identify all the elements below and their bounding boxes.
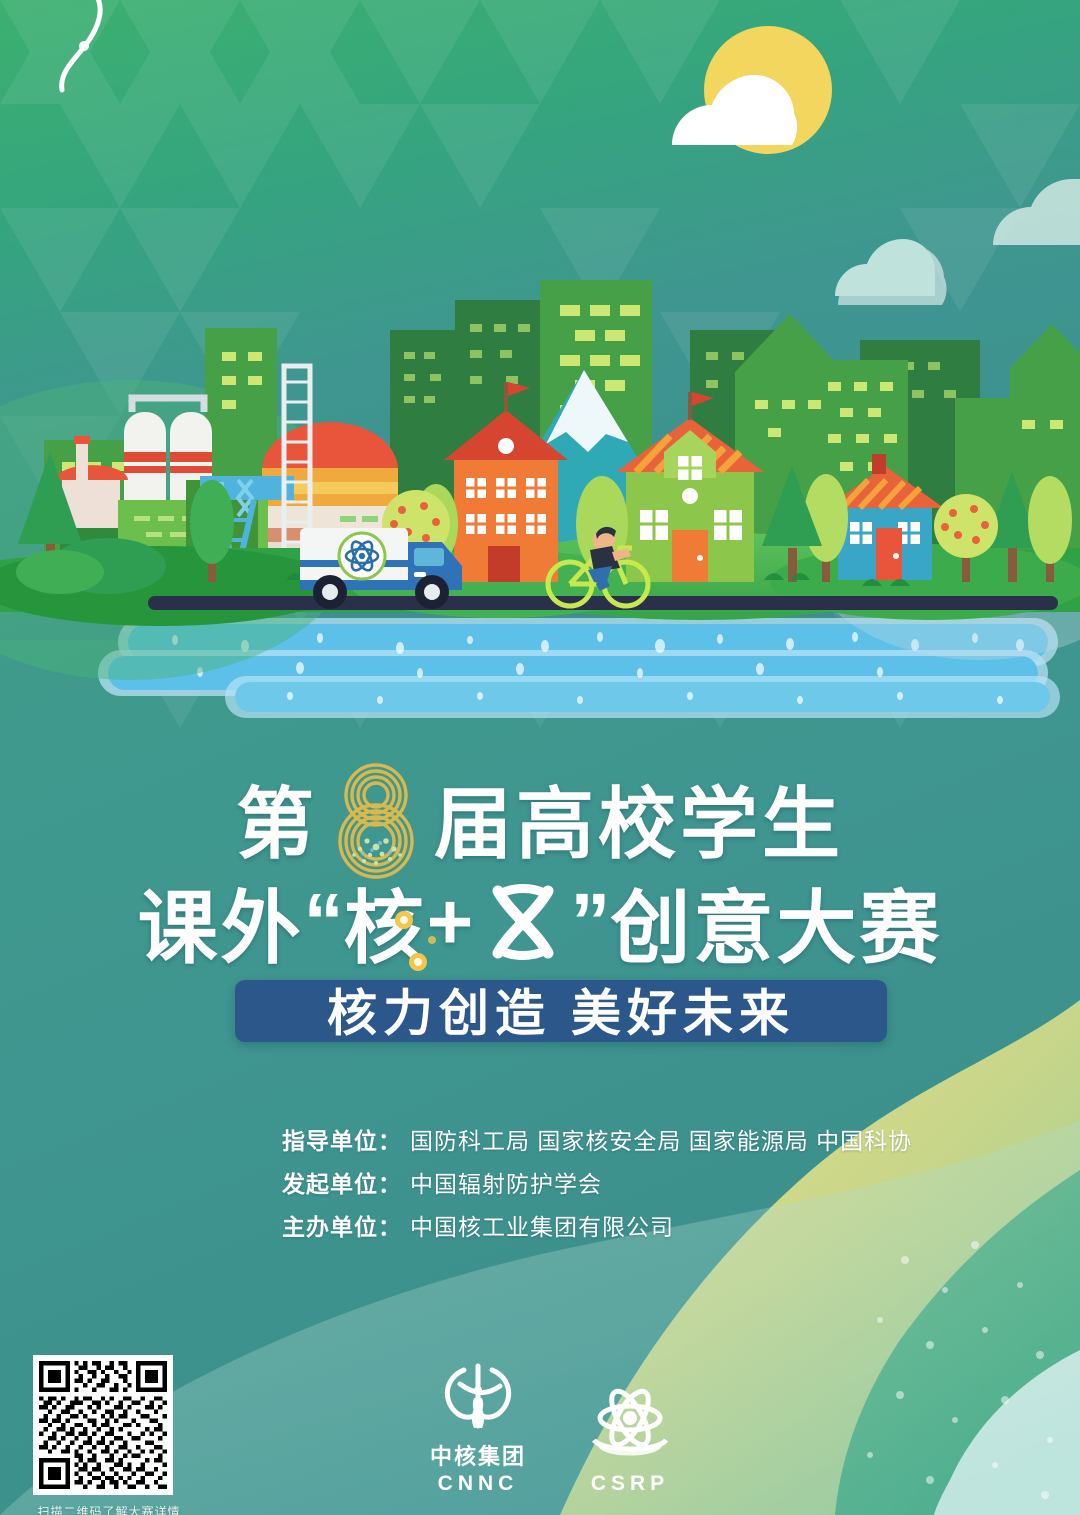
slogan-text: 核力创造 美好未来 <box>235 974 887 1046</box>
road <box>148 596 1058 610</box>
logo-cnnc-en: CNNC <box>430 1472 526 1496</box>
organizer-row: 发起单位 ： 中国辐射防护学会 <box>282 1165 912 1199</box>
organizer-label: 指导单位 <box>282 1122 378 1156</box>
csrp-atom-icon <box>578 1382 682 1466</box>
poster-root: 第 <box>0 0 1080 1515</box>
qr-code-image[interactable] <box>33 1355 173 1495</box>
organizer-colon: ： <box>378 1165 401 1199</box>
edition-number-8 <box>320 755 432 881</box>
slogan-he-swoosh <box>36 0 156 96</box>
title-prefix: 第 <box>236 762 318 874</box>
quote-close: ” <box>570 876 610 968</box>
organizer-colon: ： <box>378 1208 401 1242</box>
qr-block[interactable]: 扫描二维码了解大赛详情 <box>33 1355 185 1515</box>
logo-cnnc: 中核集团 CNNC <box>430 1360 526 1496</box>
logo-csrp-en: CSRP <box>578 1472 682 1496</box>
organizer-label: 主办单位 <box>282 1208 378 1242</box>
title-line-2: 课外 “ 核 + ” 创意大赛 <box>0 870 1080 974</box>
organizer-colon: ： <box>378 1122 401 1156</box>
organizer-label: 发起单位 <box>282 1165 378 1199</box>
title-part-contest: 创意大赛 <box>610 864 942 980</box>
title-line-1: 第 <box>0 770 1080 866</box>
title-block: 第 <box>0 770 1080 974</box>
organizer-row: 指导单位 ： 国防科工局 国家核安全局 国家能源局 中国科协 <box>282 1122 912 1156</box>
background-art <box>0 0 1080 1515</box>
title-part-keiwai: 课外 <box>138 864 304 980</box>
cnnc-atom-icon <box>430 1360 526 1432</box>
organizer-value: 国防科工局 国家核安全局 国家能源局 中国科协 <box>410 1122 912 1156</box>
organizer-value: 中国核工业集团有限公司 <box>410 1208 674 1242</box>
qr-caption: 扫描二维码了解大赛详情 <box>33 1503 185 1515</box>
dna-helix-icon <box>480 879 566 965</box>
title-char-he: 核 <box>344 864 427 980</box>
organizer-value: 中国辐射防护学会 <box>410 1165 602 1199</box>
logo-row: 中核集团 CNNC CSRP <box>430 1360 682 1496</box>
slogan-badge: 核力创造 美好未来 <box>235 980 887 1042</box>
logo-cnnc-cn: 中核集团 <box>430 1439 526 1471</box>
quote-open: “ <box>304 876 344 968</box>
title-plus: + <box>427 876 477 968</box>
title-suffix: 届高校学生 <box>434 762 844 874</box>
logo-csrp: CSRP <box>578 1382 682 1496</box>
organizers-block: 指导单位 ： 国防科工局 国家核安全局 国家能源局 中国科协 发起单位 ： 中国… <box>282 1122 912 1251</box>
organizer-row: 主办单位 ： 中国核工业集团有限公司 <box>282 1208 912 1242</box>
